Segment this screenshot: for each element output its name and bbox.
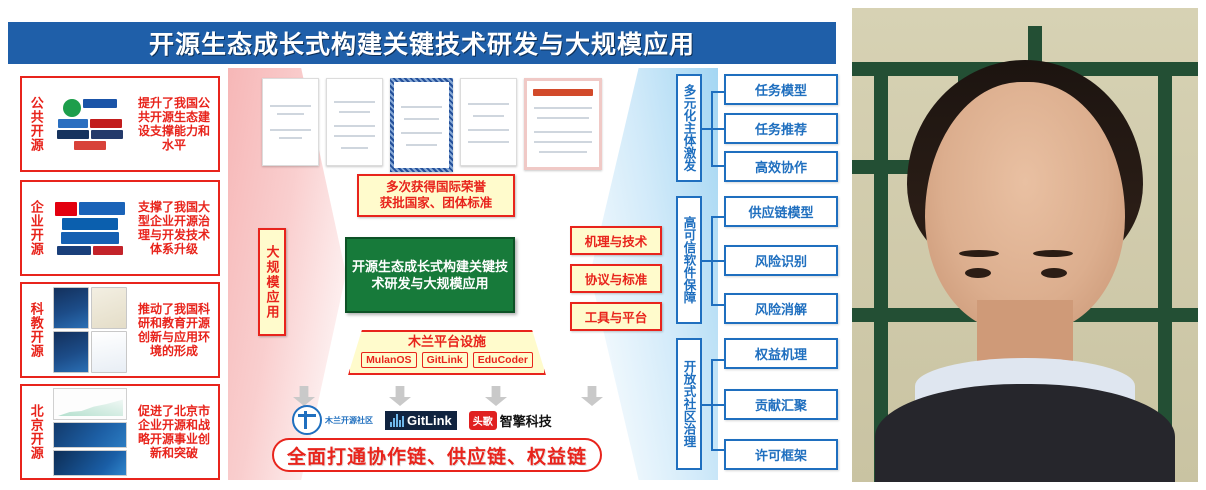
report-cover-thumb [53, 287, 89, 329]
mulan-platform-panel: 木兰平台设施 MulanOS GitLink EduCoder [348, 330, 546, 375]
growth-chart-thumb [53, 388, 127, 420]
huawei-logo [55, 202, 77, 216]
mulan-community-label: 木兰开源社区 [325, 415, 373, 426]
sigsoft-award-cert [460, 78, 517, 166]
tree-connector [702, 196, 724, 324]
right-group-multi-agent: 多元化主体激发 任务模型 任务推荐 高效协作 [676, 74, 838, 182]
webpage-thumb [91, 331, 127, 373]
neusoft-logo [62, 218, 118, 230]
tech-box-mechanism[interactable]: 机理与技术 [570, 226, 662, 255]
poster-root: 开源生态成长式构建关键技术研发与大规模应用 公共开源 提升了我国公共开源生态建设… [0, 0, 1206, 490]
zhiqing-technology-logo[interactable]: 头歌 智擎科技 [469, 411, 552, 430]
left-section-research-education-open-source[interactable]: 科教开源 推动了我国科研和教育开源创新与应用环境的形成 [20, 282, 220, 378]
bottom-statement-text: 全面打通协作链、供应链、权益链 [287, 442, 587, 469]
right-group-label-text: 多元化主体激发 [680, 84, 699, 172]
platform-screenshot-thumb [53, 450, 127, 476]
arrow-down-icon [485, 386, 507, 406]
mulan-community-mark-icon [292, 405, 322, 435]
news-banner-thumb [53, 422, 127, 448]
right-group-items: 供应链模型 风险识别 风险消解 [724, 196, 838, 324]
person-torso [875, 384, 1175, 482]
technology-box-group: 机理与技术 协议与标准 工具与平台 [570, 226, 662, 331]
international-award-cert [326, 78, 383, 166]
left-section-label: 科教开源 [22, 284, 50, 376]
right-group-items: 任务模型 任务推荐 高效协作 [724, 74, 838, 182]
tcse-award-cert [524, 78, 602, 170]
left-section-label: 公共开源 [22, 78, 50, 170]
large-scale-application-label: 大规模应用 [258, 228, 286, 336]
portrait-photo [852, 8, 1198, 482]
right-group-items: 权益机理 贡献汇聚 许可框架 [724, 338, 838, 470]
chip-educoder[interactable]: EduCoder [473, 352, 533, 368]
right-group-label-text: 高可信软件保障 [680, 216, 699, 304]
item-efficient-collaboration[interactable]: 高效协作 [724, 151, 838, 182]
right-group-label-text: 开放式社区治理 [680, 360, 699, 448]
right-group-label: 开放式社区治理 [676, 338, 702, 470]
item-risk-identification[interactable]: 风险识别 [724, 245, 838, 276]
left-section-label: 北京开源 [22, 386, 50, 478]
item-task-model[interactable]: 任务模型 [724, 74, 838, 105]
tree-connector [702, 338, 724, 470]
openi-logo [83, 99, 117, 108]
left-section-text: 推动了我国科研和教育开源创新与应用环境的形成 [130, 284, 218, 376]
certificate-thumb [91, 287, 127, 329]
bottom-logo-row: 木兰开源社区 GitLink 头歌 智擎科技 [292, 404, 622, 436]
item-supply-chain-model[interactable]: 供应链模型 [724, 196, 838, 227]
right-group-open-community-governance: 开放式社区治理 权益机理 贡献汇聚 许可框架 [676, 338, 838, 470]
enterprise-logo-group [50, 182, 130, 274]
mulan-open-source-community-logo[interactable]: 木兰开源社区 [292, 405, 373, 435]
tech-box-tooling[interactable]: 工具与平台 [570, 302, 662, 331]
gitlink-label: GitLink [407, 413, 452, 428]
wanda-logo [93, 246, 123, 255]
right-group-label: 高可信软件保障 [676, 196, 702, 324]
right-group-label: 多元化主体激发 [676, 74, 702, 182]
core-topic-text: 开源生态成长式构建关键技术研发与大规模应用 [347, 258, 513, 292]
zhiqing-label: 智擎科技 [500, 411, 552, 430]
left-section-text: 促进了北京市企业开源和战略开源事业创新和突破 [130, 386, 218, 478]
arrow-down-icon [293, 386, 315, 406]
kingdee-logo [57, 246, 91, 255]
inspur-yunzhou-logo [61, 232, 119, 244]
left-section-enterprise-open-source[interactable]: 企业开源 支撑了我国大型企业开源治理与开发技术体系升级 [20, 180, 220, 276]
chip-mulanos[interactable]: MulanOS [361, 352, 417, 368]
mulan-platform-title: 木兰平台设施 [356, 335, 538, 349]
inspur-logo [79, 202, 125, 215]
apache-logo [74, 141, 106, 150]
certificate-gallery [262, 78, 602, 166]
educoder-mark-icon: 头歌 [469, 411, 497, 430]
item-license-framework[interactable]: 许可框架 [724, 439, 838, 470]
linux-foundation-logo [91, 130, 123, 139]
item-task-recommendation[interactable]: 任务推荐 [724, 113, 838, 144]
large-scale-application-text: 大规模应用 [263, 245, 282, 320]
book-cover-thumb [53, 331, 89, 373]
page-title-banner: 开源生态成长式构建关键技术研发与大规模应用 [8, 22, 836, 64]
page-title: 开源生态成长式构建关键技术研发与大规模应用 [149, 25, 695, 61]
standard-document-cert [262, 78, 319, 166]
tech-box-protocol[interactable]: 协议与标准 [570, 264, 662, 293]
gitlink-logo [57, 130, 89, 139]
left-section-text: 提升了我国公共开源生态建设支撑能力和水平 [130, 78, 218, 170]
left-section-text: 支撑了我国大型企业开源治理与开发技术体系升级 [130, 182, 218, 274]
arrow-down-icon [581, 386, 603, 406]
gitlink-logo[interactable]: GitLink [385, 411, 457, 430]
bottom-statement-pill: 全面打通协作链、供应链、权益链 [272, 438, 602, 472]
open-source-logo-group [50, 78, 130, 170]
research-thumbnail-group [50, 284, 130, 376]
beijing-thumbnail-group [50, 386, 130, 478]
honor-line-2: 获批国家、团体标准 [361, 196, 511, 212]
openi-secondary-logo [58, 119, 88, 128]
downward-arrow-group [293, 386, 603, 406]
left-section-label: 企业开源 [22, 182, 50, 274]
arrow-down-icon [389, 386, 411, 406]
openatom-logo [63, 99, 81, 117]
left-section-beijing-open-source[interactable]: 北京开源 促进了北京市企业开源和战略开源事业创新和突破 [20, 384, 220, 480]
item-risk-mitigation[interactable]: 风险消解 [724, 293, 838, 324]
honor-banner: 多次获得国际荣誉 获批国家、团体标准 [357, 174, 515, 217]
mulan-platform-chips: MulanOS GitLink EduCoder [356, 352, 538, 368]
chip-gitlink[interactable]: GitLink [422, 352, 468, 368]
best-paper-cert [390, 78, 453, 172]
right-group-trusted-software: 高可信软件保障 供应链模型 风险识别 风险消解 [676, 196, 838, 324]
item-rights-mechanism[interactable]: 权益机理 [724, 338, 838, 369]
gitlink-bars-icon [390, 414, 404, 427]
honor-line-1: 多次获得国际荣誉 [361, 180, 511, 196]
core-topic-box: 开源生态成长式构建关键技术研发与大规模应用 [345, 237, 515, 313]
left-section-public-open-source[interactable]: 公共开源 提升了我国公共开源生态建设支撑能力和水平 [20, 76, 220, 172]
gitee-logo [90, 119, 122, 128]
item-contribution-aggregation[interactable]: 贡献汇聚 [724, 389, 838, 420]
person-face [925, 82, 1125, 332]
tree-connector [702, 74, 724, 182]
